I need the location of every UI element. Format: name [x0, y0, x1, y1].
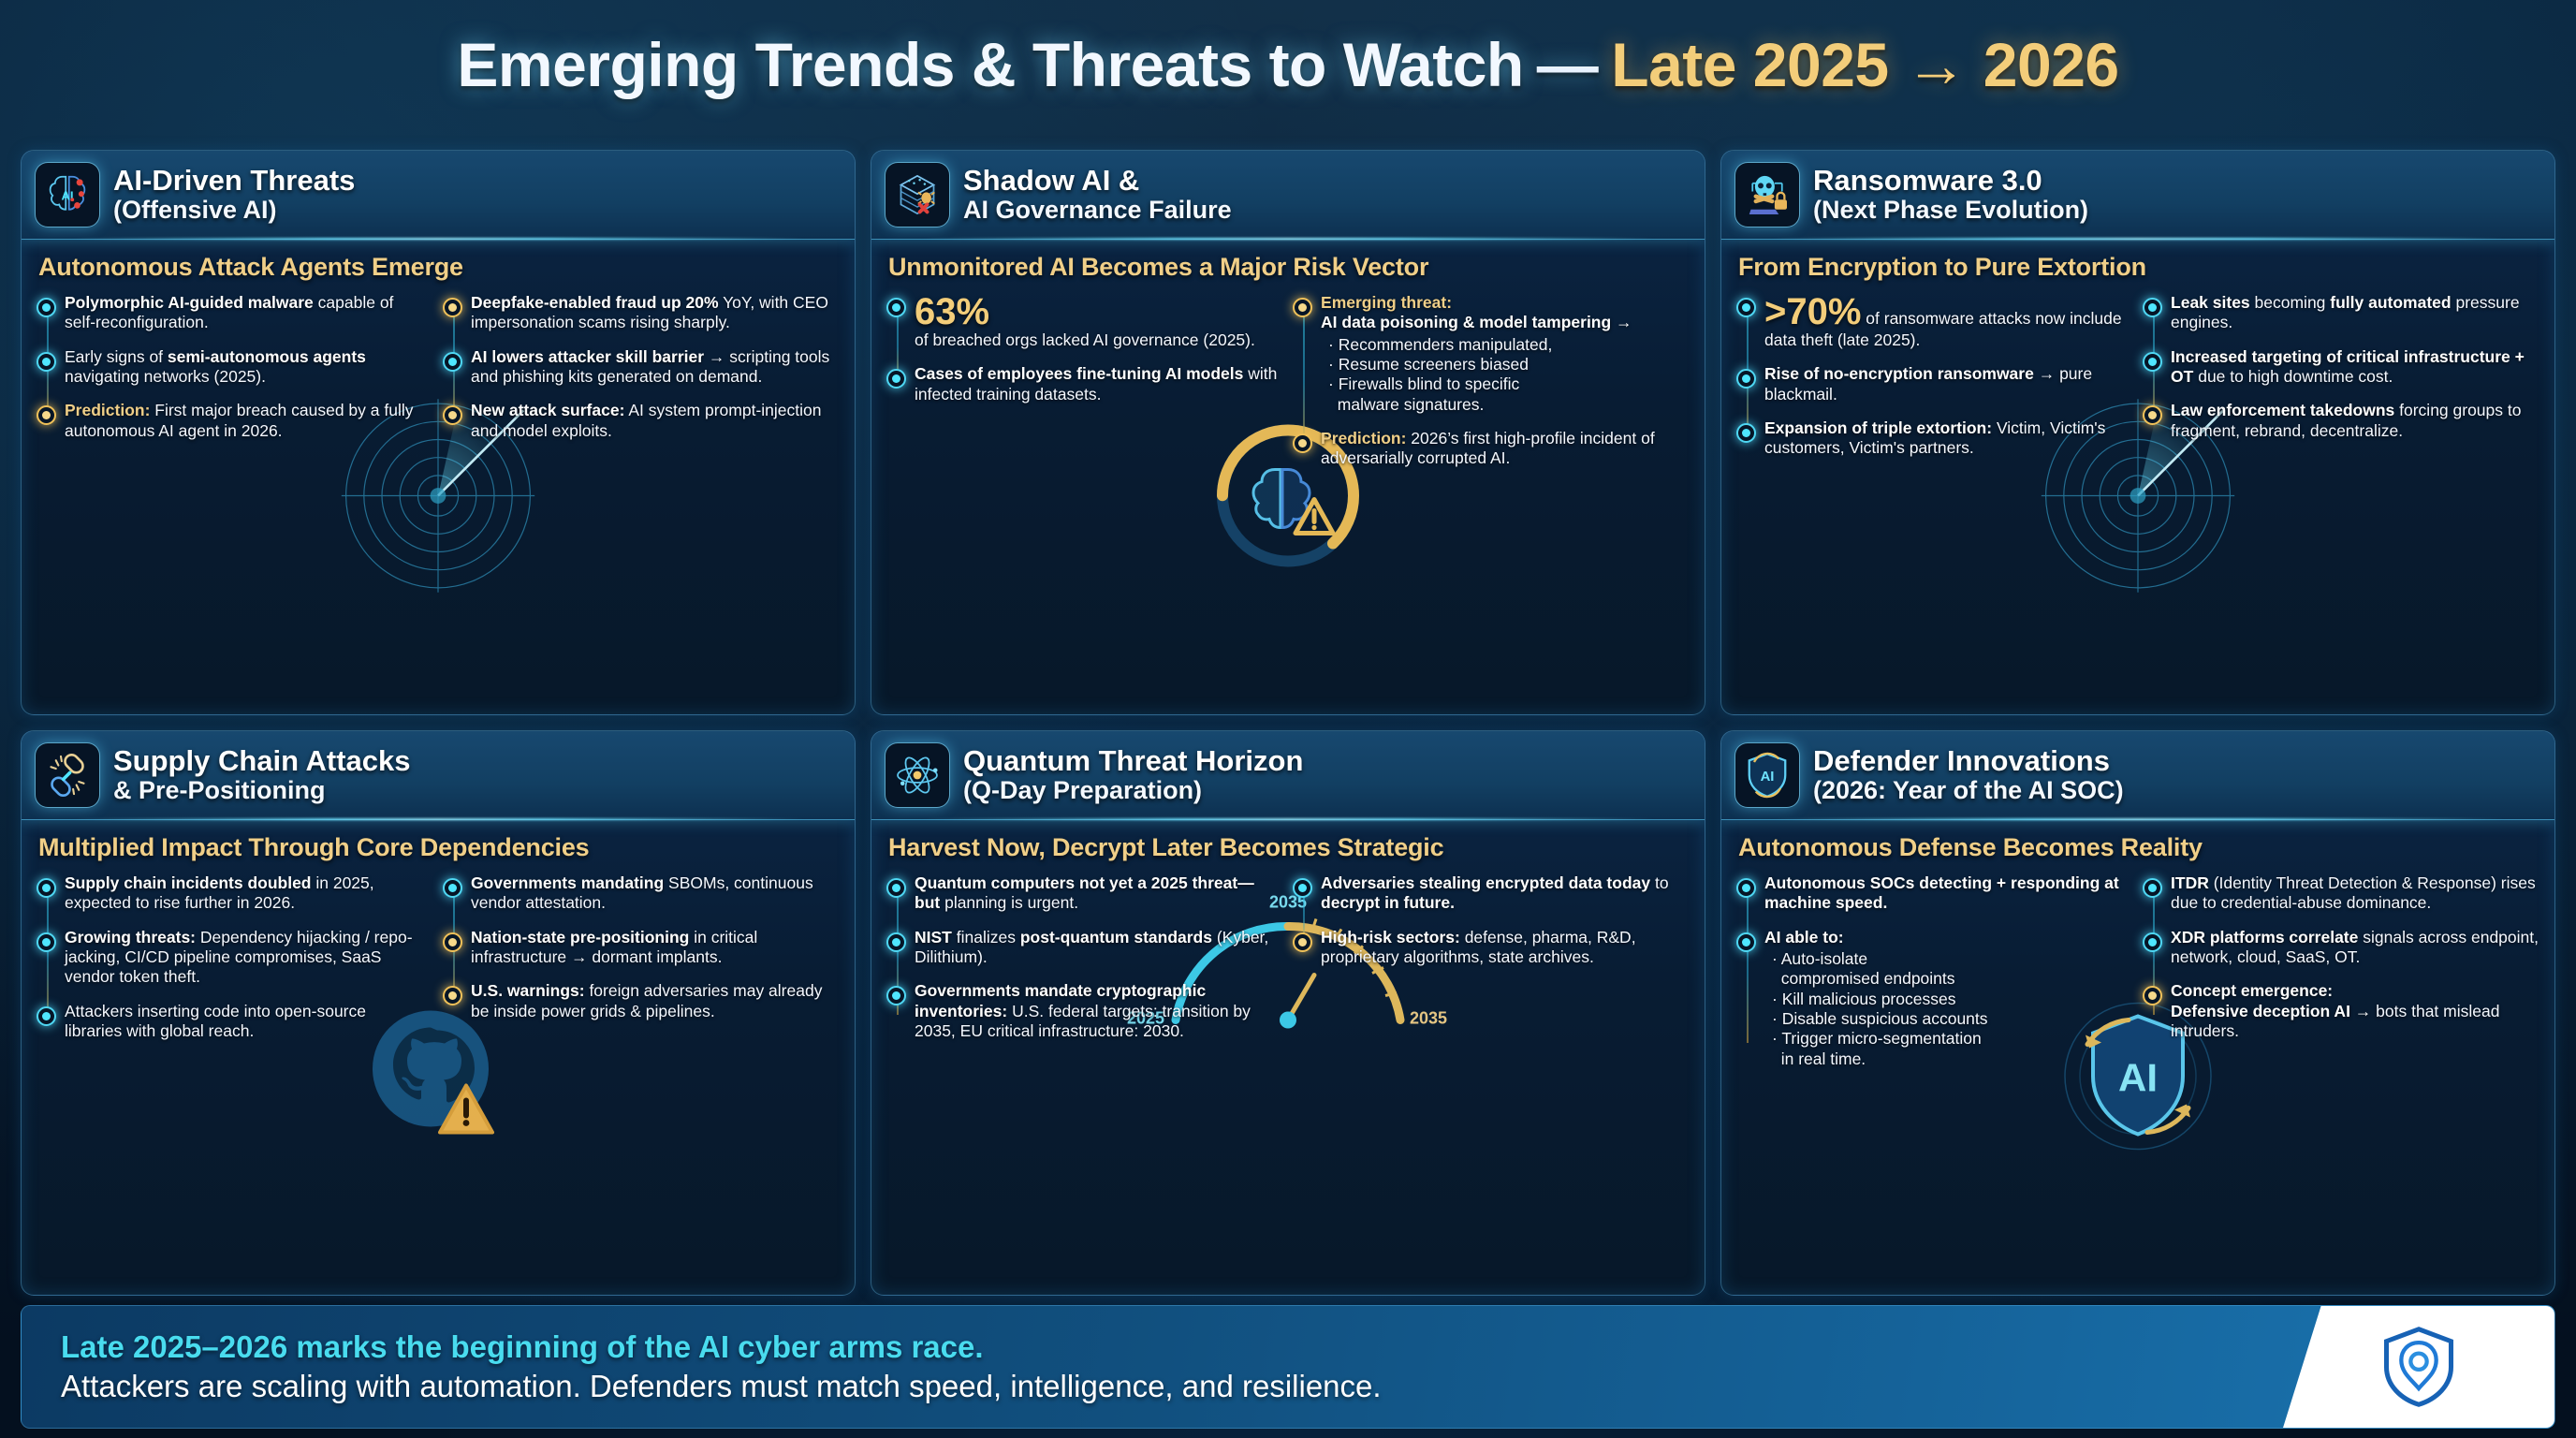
bullet-dot-icon — [2143, 932, 2162, 952]
bullet-text: Adversaries stealing encrypted data toda… — [1321, 873, 1690, 914]
bullet-dot-icon — [1736, 369, 1756, 389]
bullet-dot-icon — [37, 405, 56, 425]
bullet-dot-icon — [1736, 932, 1756, 952]
bullet-item: Prediction: 2026’s first high-profile in… — [1321, 429, 1690, 469]
card-body: Autonomous Defense Becomes Reality AI Au… — [1721, 820, 2554, 1295]
bullet-dot-icon — [1293, 878, 1312, 898]
bullet-item: >70% of ransomware attacks now include d… — [1764, 293, 2128, 350]
bullet-item: ITDR (Identity Threat Detection & Respon… — [2171, 873, 2539, 914]
bullet-subitem: · Disable suspicious accounts — [1772, 1009, 2128, 1029]
bullet-sublist: · Auto-isolate compromised endpoints· Ki… — [1772, 949, 2128, 1069]
card-header-titles: Supply Chain Attacks & Pre-Positioning — [113, 745, 827, 804]
cards-grid: AI AI-Driven Threats (Offensive AI) <scr… — [21, 150, 2555, 1296]
bullet-item: Law enforcement takedowns forcing groups… — [2171, 401, 2539, 441]
bullet-subitem: · Recommenders manipulated, — [1328, 335, 1690, 355]
bullet-subitem: malware signatures. — [1328, 395, 1690, 415]
bullet-item: Emerging threat:AI data poisoning & mode… — [1321, 293, 1690, 415]
card-header-titles: Shadow AI & AI Governance Failure — [963, 165, 1676, 224]
column-left: Autonomous SOCs detecting + responding a… — [1736, 873, 2133, 1284]
card-title: Defender Innovations — [1813, 745, 2526, 776]
bullet-subitem: · Kill malicious processes — [1772, 990, 2128, 1009]
bullet-list-right: Deepfake-enabled fraud up 20% YoY, with … — [443, 293, 840, 441]
footer-line-1: Late 2025–2026 marks the beginning of th… — [61, 1328, 1382, 1367]
bullet-subitem: · Firewalls blind to specific — [1328, 374, 1690, 394]
card-subtitle: (2026: Year of the AI SOC) — [1813, 777, 2526, 805]
card-columns: AI Autonomous SOCs detecting + respondin… — [1736, 873, 2539, 1284]
bullet-item: Polymorphic AI-guided malware capable of… — [65, 293, 428, 333]
bullet-dot-icon — [37, 1006, 56, 1026]
card-band-heading: Autonomous Attack Agents Emerge — [38, 253, 840, 282]
bullet-list-left: Autonomous SOCs detecting + responding a… — [1736, 873, 2128, 1069]
bullet-item: XDR platforms correlate signals across e… — [2171, 928, 2539, 968]
card-columns: 63%of breached orgs lacked AI governance… — [886, 293, 1690, 703]
bullet-item: Growing threats: Dependency hijacking / … — [65, 928, 428, 988]
column-left: Quantum computers not yet a 2025 threat—… — [886, 873, 1283, 1284]
card-band-heading: From Encryption to Pure Extortion — [1738, 253, 2539, 282]
bullet-list-left: >70% of ransomware attacks now include d… — [1736, 293, 2128, 459]
bullet-item: AI lowers attacker skill barrier → scrip… — [471, 347, 840, 388]
skull-laptop-lock-icon — [1734, 162, 1800, 227]
bullet-text: Emerging threat:AI data poisoning & mode… — [1321, 293, 1690, 333]
bullet-subitem: compromised endpoints — [1772, 969, 2128, 989]
bullet-item: Leak sites becoming fully automated pres… — [2171, 293, 2539, 333]
card-title: Supply Chain Attacks — [113, 745, 827, 776]
bullet-item: High-risk sectors: defense, pharma, R&D,… — [1321, 928, 1690, 968]
card-header: Quantum Threat Horizon (Q-Day Preparatio… — [871, 731, 1705, 820]
card-title: Shadow AI & — [963, 165, 1676, 196]
bullet-text: Prediction: First major breach caused by… — [65, 401, 428, 441]
card-header: Supply Chain Attacks & Pre-Positioning <… — [22, 731, 855, 820]
bullet-dot-icon — [443, 298, 462, 317]
bullet-text: Expansion of triple extortion: Victim, V… — [1764, 418, 2128, 459]
column-right: Leak sites becoming fully automated pres… — [2143, 293, 2539, 703]
bullet-list-left: Supply chain incidents doubled in 2025, … — [37, 873, 428, 1041]
bullet-text: High-risk sectors: defense, pharma, R&D,… — [1321, 928, 1690, 968]
bullet-dot-icon — [886, 878, 906, 898]
bullet-text: AI lowers attacker skill barrier → scrip… — [471, 347, 840, 388]
bullet-item: Governments mandating SBOMs, continuous … — [471, 873, 840, 914]
bullet-item: Rise of no-encryption ransomware → pure … — [1764, 364, 2128, 404]
shield-logo-icon — [2376, 1324, 2462, 1410]
bullet-text: Governments mandate cryptographic invent… — [915, 981, 1278, 1041]
bullet-list-left: 63%of breached orgs lacked AI governance… — [886, 293, 1278, 404]
footer-line-2: Attackers are scaling with automation. D… — [61, 1367, 1382, 1406]
bullet-item: AI able to: · Auto-isolate compromised e… — [1764, 928, 2128, 1069]
bullet-dot-icon — [37, 352, 56, 372]
card-body: Autonomous Attack Agents Emerge Polymorp… — [22, 240, 855, 714]
column-right: Emerging threat:AI data poisoning & mode… — [1293, 293, 1690, 703]
card-columns: Polymorphic AI-guided malware capable of… — [37, 293, 840, 703]
card-body: Harvest Now, Decrypt Later Becomes Strat… — [871, 820, 1705, 1295]
card-header-titles: Ransomware 3.0 (Next Phase Evolution) — [1813, 165, 2526, 224]
bullet-dot-icon — [2143, 986, 2162, 1005]
bullet-list-right: Emerging threat:AI data poisoning & mode… — [1293, 293, 1690, 469]
threat-card-4: Supply Chain Attacks & Pre-Positioning <… — [21, 730, 856, 1296]
page-title-accent: Late 2025 → 2026 — [1611, 29, 2118, 100]
page-title-dash: — — [1524, 29, 1612, 100]
bullet-dot-icon — [1736, 298, 1756, 317]
threat-card-5: Quantum Threat Horizon (Q-Day Preparatio… — [871, 730, 1705, 1296]
bullet-subitem: · Trigger micro-segmentation — [1772, 1029, 2128, 1049]
quantum-atom-icon — [885, 742, 950, 808]
bullet-sublist: · Recommenders manipulated,· Resume scre… — [1328, 335, 1690, 415]
bullet-text: XDR platforms correlate signals across e… — [2171, 928, 2539, 968]
bullet-text: Law enforcement takedowns forcing groups… — [2171, 401, 2539, 441]
bullet-list-right: Governments mandating SBOMs, continuous … — [443, 873, 840, 1021]
bullet-text: Governments mandating SBOMs, continuous … — [471, 873, 840, 914]
bullet-text: Growing threats: Dependency hijacking / … — [65, 928, 428, 988]
bullet-item: Prediction: First major breach caused by… — [65, 401, 428, 441]
bullet-dot-icon — [1736, 423, 1756, 443]
card-header: Shadow AI & AI Governance Failure — [871, 151, 1705, 240]
bullet-text: Nation-state pre-positioning in critical… — [471, 928, 840, 968]
bullet-text: NIST finalizes post-quantum standards (K… — [915, 928, 1278, 968]
bullet-text: Quantum computers not yet a 2025 threat—… — [915, 873, 1278, 914]
bullet-dot-icon — [443, 986, 462, 1005]
bullet-item: Increased targeting of critical infrastr… — [2171, 347, 2539, 388]
bullet-item: Deepfake-enabled fraud up 20% YoY, with … — [471, 293, 840, 333]
bullet-dot-icon — [443, 878, 462, 898]
ai-brain-icon: AI — [35, 162, 100, 227]
broken-chain-link-icon — [35, 742, 100, 808]
bullet-text: Concept emergence:Defensive deception AI… — [2171, 981, 2539, 1041]
bullet-text: Polymorphic AI-guided malware capable of… — [65, 293, 428, 333]
card-columns: >70% of ransomware attacks now include d… — [1736, 293, 2539, 703]
bullet-text: Increased targeting of critical infrastr… — [2171, 347, 2539, 388]
svg-text:AI: AI — [1761, 770, 1775, 785]
bullet-text: Attackers inserting code into open-sourc… — [65, 1002, 428, 1042]
card-header-titles: Defender Innovations (2026: Year of the … — [1813, 745, 2526, 804]
card-band-heading: Multiplied Impact Through Core Dependenc… — [38, 833, 840, 862]
bullet-text: 63%of breached orgs lacked AI governance… — [915, 293, 1278, 350]
page-title: Emerging Trends & Threats to Watch — Lat… — [0, 9, 2576, 120]
bullet-subitem: · Resume screeners biased — [1328, 355, 1690, 374]
bullet-item: Concept emergence:Defensive deception AI… — [2171, 981, 2539, 1041]
bullet-dot-icon — [1293, 298, 1312, 317]
bullet-dot-icon — [37, 298, 56, 317]
card-body: Unmonitored AI Becomes a Major Risk Vect… — [871, 240, 1705, 714]
bullet-text: New attack surface: AI system prompt-inj… — [471, 401, 840, 441]
bullet-dot-icon — [443, 405, 462, 425]
bullet-text: AI able to: — [1764, 928, 2128, 947]
bullet-list-right: Adversaries stealing encrypted data toda… — [1293, 873, 1690, 967]
bullet-dot-icon — [886, 986, 906, 1005]
card-subtitle: (Next Phase Evolution) — [1813, 197, 2526, 225]
bullet-item: Early signs of semi-autonomous agents na… — [65, 347, 428, 388]
card-subtitle: (Offensive AI) — [113, 197, 827, 225]
column-left: 63%of breached orgs lacked AI governance… — [886, 293, 1283, 703]
bullet-item: Supply chain incidents doubled in 2025, … — [65, 873, 428, 914]
card-columns: Supply chain incidents doubled in 2025, … — [37, 873, 840, 1284]
bullet-item: 63%of breached orgs lacked AI governance… — [915, 293, 1278, 350]
bullet-text: Leak sites becoming fully automated pres… — [2171, 293, 2539, 333]
bullet-item: U.S. warnings: foreign adversaries may a… — [471, 981, 840, 1021]
card-title: Quantum Threat Horizon — [963, 745, 1676, 776]
bullet-text: Cases of employees fine-tuning AI models… — [915, 364, 1278, 404]
column-right: Adversaries stealing encrypted data toda… — [1293, 873, 1690, 1284]
card-subtitle: (Q-Day Preparation) — [963, 777, 1676, 805]
bullet-item: Cases of employees fine-tuning AI models… — [915, 364, 1278, 404]
card-title: AI-Driven Threats — [113, 165, 827, 196]
bullet-item: Attackers inserting code into open-sourc… — [65, 1002, 428, 1042]
threat-card-1: AI AI-Driven Threats (Offensive AI) <scr… — [21, 150, 856, 715]
bullet-dot-icon — [1293, 433, 1312, 453]
bullet-item: Autonomous SOCs detecting + responding a… — [1764, 873, 2128, 914]
card-header: AI AI-Driven Threats (Offensive AI) <scr… — [22, 151, 855, 240]
bullet-item: Quantum computers not yet a 2025 threat—… — [915, 873, 1278, 914]
card-band-heading: Autonomous Defense Becomes Reality — [1738, 833, 2539, 862]
ai-shield-icon: AI — [1734, 742, 1800, 808]
bullet-dot-icon — [2143, 352, 2162, 372]
bullet-item: Adversaries stealing encrypted data toda… — [1321, 873, 1690, 914]
footer-banner: Late 2025–2026 marks the beginning of th… — [21, 1305, 2555, 1429]
card-subtitle: & Pre-Positioning — [113, 777, 827, 805]
bullet-dot-icon — [2143, 298, 2162, 317]
card-band-heading: Unmonitored AI Becomes a Major Risk Vect… — [888, 253, 1690, 282]
bullet-dot-icon — [37, 932, 56, 952]
bullet-text: ITDR (Identity Threat Detection & Respon… — [2171, 873, 2539, 914]
bullet-list-right: Leak sites becoming fully automated pres… — [2143, 293, 2539, 441]
bullet-text: Supply chain incidents doubled in 2025, … — [65, 873, 428, 914]
bullet-dot-icon — [37, 878, 56, 898]
bullet-dot-icon — [886, 932, 906, 952]
bullet-text: >70% of ransomware attacks now include d… — [1764, 293, 2128, 350]
column-right: Governments mandating SBOMs, continuous … — [443, 873, 840, 1284]
card-band-heading: Harvest Now, Decrypt Later Becomes Strat… — [888, 833, 1690, 862]
bullet-text: Rise of no-encryption ransomware → pure … — [1764, 364, 2128, 404]
bullet-text: Autonomous SOCs detecting + responding a… — [1764, 873, 2128, 914]
bullet-dot-icon — [1293, 932, 1312, 952]
bullet-text: Early signs of semi-autonomous agents na… — [65, 347, 428, 388]
card-body: Multiplied Impact Through Core Dependenc… — [22, 820, 855, 1295]
card-columns: 2035 2025 2035 Quantum computers not yet… — [886, 873, 1690, 1284]
bullet-dot-icon — [1736, 878, 1756, 898]
bullet-dot-icon — [443, 352, 462, 372]
bullet-list-left: Quantum computers not yet a 2025 threat—… — [886, 873, 1278, 1041]
card-title: Ransomware 3.0 — [1813, 165, 2526, 196]
bullet-item: Nation-state pre-positioning in critical… — [471, 928, 840, 968]
page-title-main: Emerging Trends & Threats to Watch — [457, 29, 1523, 100]
column-left: >70% of ransomware attacks now include d… — [1736, 293, 2133, 703]
bullet-item: NIST finalizes post-quantum standards (K… — [915, 928, 1278, 968]
card-header-titles: Quantum Threat Horizon (Q-Day Preparatio… — [963, 745, 1676, 804]
bullet-dot-icon — [2143, 405, 2162, 425]
column-left: Polymorphic AI-guided malware capable of… — [37, 293, 433, 703]
column-right: Deepfake-enabled fraud up 20% YoY, with … — [443, 293, 840, 703]
bullet-subitem: · Auto-isolate — [1772, 949, 2128, 969]
bullet-dot-icon — [443, 932, 462, 952]
card-subtitle: AI Governance Failure — [963, 197, 1676, 225]
bullet-dot-icon — [2143, 878, 2162, 898]
shield-logo — [2283, 1306, 2554, 1428]
threat-card-6: AI Defender Innovations (2026: Year of t… — [1720, 730, 2555, 1296]
card-header-titles: AI-Driven Threats (Offensive AI) — [113, 165, 827, 224]
card-body: From Encryption to Pure Extortion >70% o… — [1721, 240, 2554, 714]
bullet-text: Deepfake-enabled fraud up 20% YoY, with … — [471, 293, 840, 333]
bullet-item: Governments mandate cryptographic invent… — [915, 981, 1278, 1041]
bullet-item: New attack surface: AI system prompt-inj… — [471, 401, 840, 441]
threat-card-3: Ransomware 3.0 (Next Phase Evolution) IT… — [1720, 150, 2555, 715]
threat-card-2: Shadow AI & AI Governance Failure Unmoni… — [871, 150, 1705, 715]
card-header: Ransomware 3.0 (Next Phase Evolution) IT… — [1721, 151, 2554, 240]
bullet-dot-icon — [886, 369, 906, 389]
shadow-server-bug-icon — [885, 162, 950, 227]
bullet-subitem: in real time. — [1772, 1049, 2128, 1069]
bullet-list-left: Polymorphic AI-guided malware capable of… — [37, 293, 428, 441]
bullet-text: Prediction: 2026’s first high-profile in… — [1321, 429, 1690, 469]
bullet-item: Expansion of triple extortion: Victim, V… — [1764, 418, 2128, 459]
column-left: Supply chain incidents doubled in 2025, … — [37, 873, 433, 1284]
bullet-list-right: ITDR (Identity Threat Detection & Respon… — [2143, 873, 2539, 1041]
bullet-dot-icon — [886, 298, 906, 317]
column-right: ITDR (Identity Threat Detection & Respon… — [2143, 873, 2539, 1284]
bullet-text: U.S. warnings: foreign adversaries may a… — [471, 981, 840, 1021]
card-header: AI Defender Innovations (2026: Year of t… — [1721, 731, 2554, 820]
